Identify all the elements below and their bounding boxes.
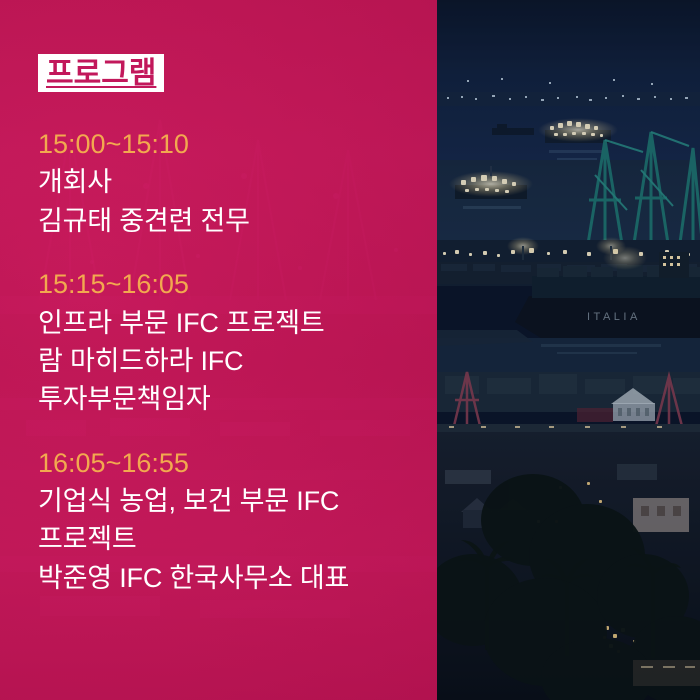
schedule-detail: 개회사 김규태 중견련 전무 bbox=[38, 163, 433, 240]
schedule-line: 투자부문책임자 bbox=[38, 380, 433, 418]
program-content: 프로그램 15:00~15:10 개회사 김규태 중견련 전무 15:15~16… bbox=[0, 0, 437, 700]
schedule-item: 15:00~15:10 개회사 김규태 중견련 전무 bbox=[38, 126, 433, 240]
schedule-line: 박준영 IFC 한국사무소 대표 bbox=[38, 559, 433, 597]
program-panel: 프로그램 15:00~15:10 개회사 김규태 중견련 전무 15:15~16… bbox=[0, 0, 437, 700]
schedule-list: 15:00~15:10 개회사 김규태 중견련 전무 15:15~16:05 인… bbox=[38, 126, 433, 597]
schedule-time: 15:15~16:05 bbox=[38, 266, 433, 302]
schedule-line: 프로젝트 bbox=[38, 520, 433, 558]
schedule-item: 15:15~16:05 인프라 부문 IFC 프로젝트 람 마히드하라 IFC … bbox=[38, 266, 433, 418]
schedule-line: 인프라 부문 IFC 프로젝트 bbox=[38, 304, 433, 342]
schedule-time: 15:00~15:10 bbox=[38, 126, 433, 162]
schedule-line: 개회사 bbox=[38, 163, 433, 201]
schedule-line: 기업식 농업, 보건 부문 IFC bbox=[38, 482, 433, 520]
schedule-time: 16:05~16:55 bbox=[38, 445, 433, 481]
schedule-line: 김규태 중견련 전무 bbox=[38, 202, 433, 240]
page-title-wrap: 프로그램 bbox=[38, 54, 164, 92]
schedule-item: 16:05~16:55 기업식 농업, 보건 부문 IFC 프로젝트 박준영 I… bbox=[38, 445, 433, 597]
harbour-illustration: ITALIA bbox=[437, 0, 700, 700]
page-title: 프로그램 bbox=[38, 54, 164, 92]
program-poster: ITALIA bbox=[0, 0, 700, 700]
schedule-detail: 인프라 부문 IFC 프로젝트 람 마히드하라 IFC 투자부문책임자 bbox=[38, 304, 433, 419]
night-harbour-photo: ITALIA bbox=[437, 0, 700, 700]
schedule-line: 람 마히드하라 IFC bbox=[38, 342, 433, 380]
schedule-detail: 기업식 농업, 보건 부문 IFC 프로젝트 박준영 IFC 한국사무소 대표 bbox=[38, 482, 433, 597]
